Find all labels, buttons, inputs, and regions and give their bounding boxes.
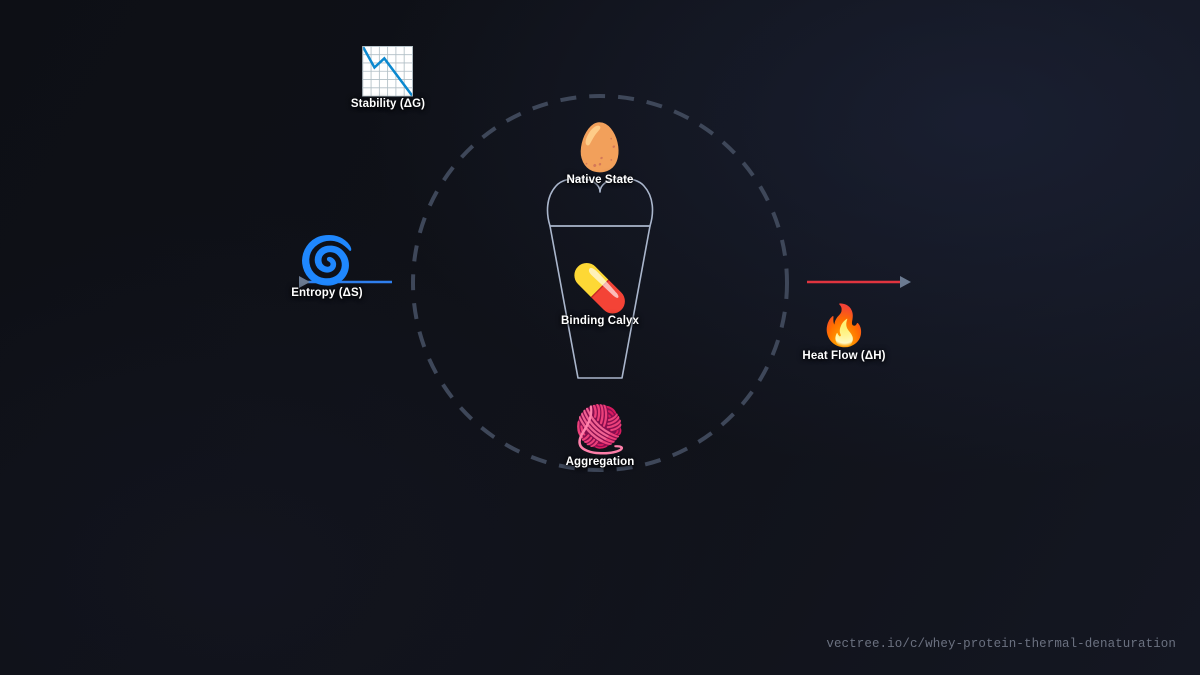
node-native-state[interactable]: 🥚 Native State: [566, 124, 633, 186]
node-stability[interactable]: 📉 Stability (ΔG): [351, 48, 425, 110]
capsule-pill-icon: 💊: [571, 265, 628, 311]
node-label-stability: Stability (ΔG): [351, 98, 425, 110]
node-binding-calyx[interactable]: 💊 Binding Calyx: [561, 265, 639, 327]
yarn-ball-icon: 🧶: [571, 406, 628, 452]
slide-canvas: 🥚 Native State 💊 Binding Calyx 🧶 Aggrega…: [0, 0, 1200, 675]
slide-footer: Vectree Thermodynamics of whey protein d…: [0, 490, 1200, 675]
node-label-heat-flow: Heat Flow (ΔH): [802, 350, 885, 362]
node-heat-flow[interactable]: 🔥 Heat Flow (ΔH): [802, 306, 885, 362]
diagram-canvas: 🥚 Native State 💊 Binding Calyx 🧶 Aggrega…: [0, 0, 1200, 490]
fire-icon: 🔥: [819, 306, 869, 346]
egg-icon: 🥚: [571, 124, 628, 170]
node-entropy[interactable]: 🌀 Entropy (ΔS): [291, 237, 362, 299]
node-aggregation[interactable]: 🧶 Aggregation: [566, 406, 635, 468]
chart-decreasing-icon: 📉: [359, 48, 416, 94]
node-label-binding-calyx: Binding Calyx: [561, 315, 639, 327]
node-label-aggregation: Aggregation: [566, 456, 635, 468]
source-url: vectree.io/c/whey-protein-thermal-denatu…: [826, 637, 1176, 651]
cyclone-icon: 🌀: [298, 237, 355, 283]
node-label-native-state: Native State: [566, 174, 633, 186]
node-label-entropy: Entropy (ΔS): [291, 287, 362, 299]
